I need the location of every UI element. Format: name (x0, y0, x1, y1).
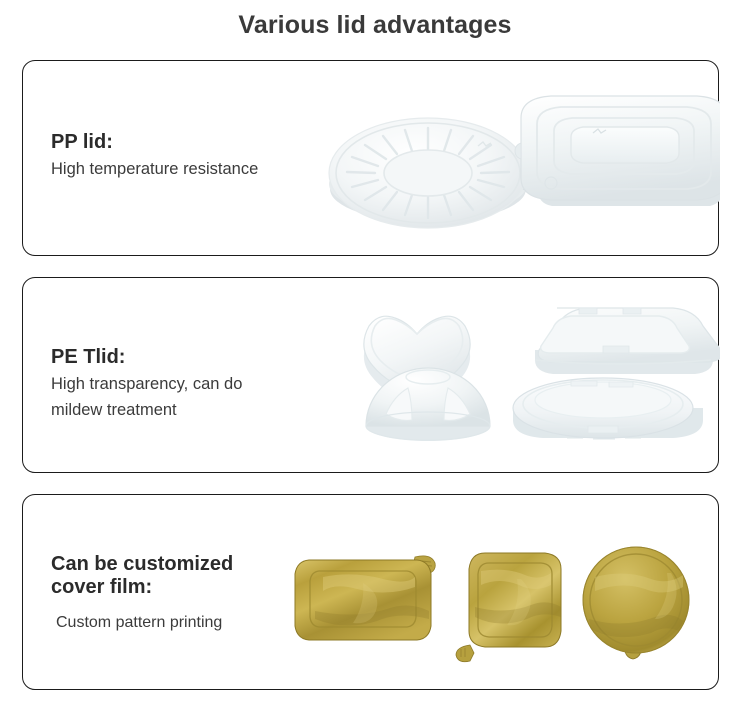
square-dome-lid-graphic (535, 308, 720, 374)
card-pp-lid: PP lid: High temperature resistance (22, 60, 719, 256)
page-title: Various lid advantages (0, 11, 750, 40)
gold-square-foil-graphic (456, 553, 561, 662)
heart-dome-lid-graphic (364, 316, 470, 402)
pp-lid-subtitle: High temperature resistance (51, 157, 258, 183)
cover-film-text-block: Can be customized cover film: Custom pat… (51, 553, 233, 636)
pp-lid-heading: PP lid: (51, 131, 258, 154)
round-pp-lid-graphic (329, 118, 542, 228)
card-pe-lid: PE Tlid: High transparency, can do milde… (22, 277, 719, 473)
cover-film-heading: Can be customized cover film: (51, 553, 233, 599)
pp-lid-text-block: PP lid: High temperature resistance (51, 131, 258, 183)
cover-film-subtitle: Custom pattern printing (51, 611, 233, 636)
oval-flat-lid-graphic (513, 378, 703, 439)
pe-lid-heading: PE Tlid: (51, 346, 242, 369)
lid-advantages-page: Various lid advantages (0, 0, 750, 713)
pe-lid-subtitle: High transparency, can do mildew treatme… (51, 372, 242, 423)
pe-lid-text-block: PE Tlid: High transparency, can do milde… (51, 346, 242, 423)
rectangular-pp-lid-graphic (515, 96, 720, 206)
round-dome-straw-lid-graphic (366, 368, 490, 441)
card-cover-film: Can be customized cover film: Custom pat… (22, 494, 719, 690)
gold-rect-foil-graphic (295, 556, 435, 640)
gold-round-foil-graphic (583, 547, 689, 659)
